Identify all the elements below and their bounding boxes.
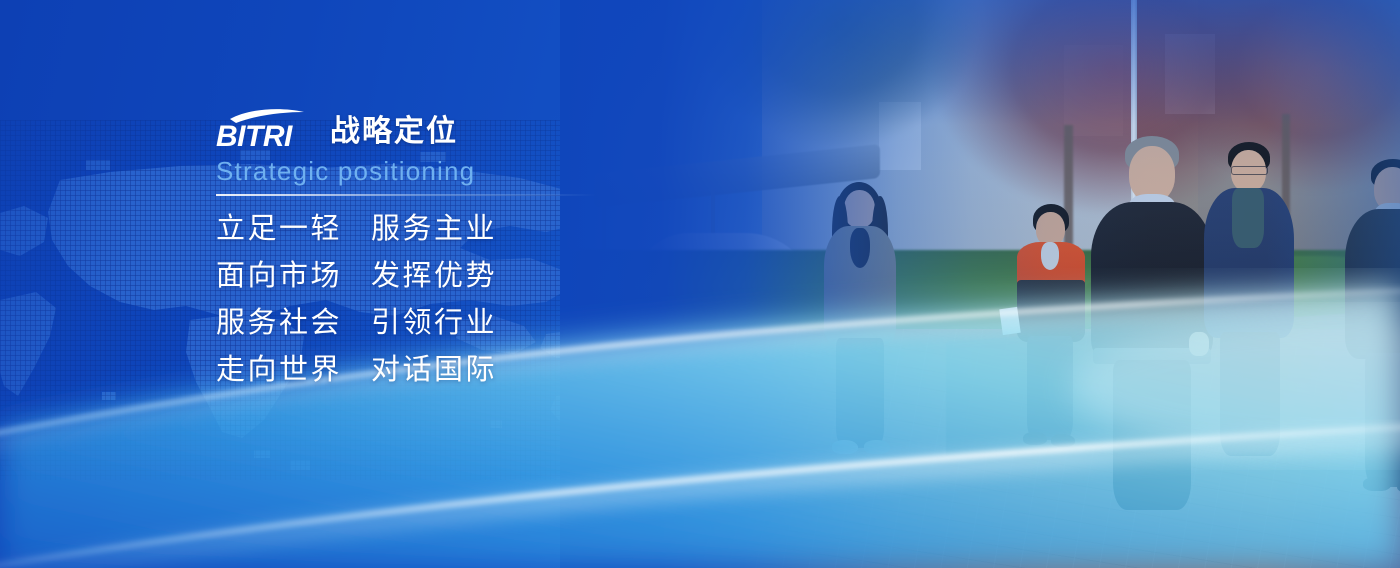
slogan-list: 立足一轻 服务主业 面向市场 发挥优势 服务社会 引领行业 走向世界 对话国际 (216, 215, 736, 385)
slogan-right: 服务主业 (371, 215, 497, 244)
bitri-logo[interactable]: BITRI (216, 106, 316, 150)
slogan-left: 走向世界 (216, 356, 371, 385)
bitri-logo-svg: BITRI (216, 106, 316, 150)
slogan-line: 立足一轻 服务主业 (216, 215, 736, 244)
logo-row: BITRI 战略定位 (216, 104, 736, 150)
banner-title-en: Strategic positioning (216, 158, 736, 185)
slogan-left: 面向市场 (216, 262, 371, 291)
slogan-left: 服务社会 (216, 309, 371, 338)
slogan-right: 发挥优势 (371, 262, 497, 291)
strategic-positioning-banner: BITRI 战略定位 Strategic positioning 立足一轻 服务… (0, 0, 1400, 568)
slogan-right: 引领行业 (371, 309, 497, 338)
title-underline (216, 194, 596, 196)
slogan-right: 对话国际 (371, 356, 497, 385)
banner-title-cn: 战略定位 (330, 117, 458, 150)
slogan-line: 服务社会 引领行业 (216, 309, 736, 338)
banner-text-block: BITRI 战略定位 Strategic positioning 立足一轻 服务… (216, 104, 736, 403)
bitri-logo-text: BITRI (216, 120, 293, 150)
slogan-line: 走向世界 对话国际 (216, 356, 736, 385)
slogan-line: 面向市场 发挥优势 (216, 262, 736, 291)
slogan-left: 立足一轻 (216, 215, 371, 244)
